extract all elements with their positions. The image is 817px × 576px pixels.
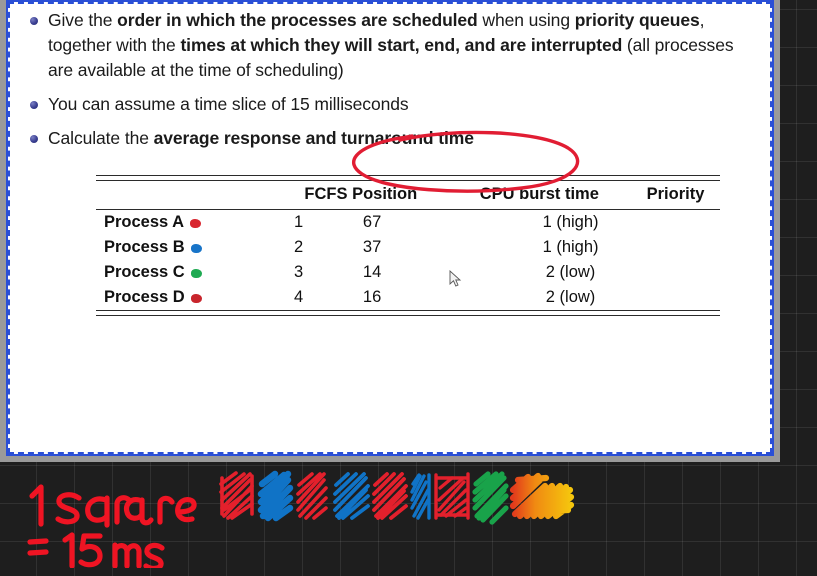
table-row: Process A 1 67 1 (high): [96, 210, 720, 235]
bullet-text-bold-2: priority queues: [575, 10, 700, 30]
table-header-row: FCFS Position CPU burst time Priority: [96, 181, 720, 209]
row-process-label: Process A: [96, 210, 274, 235]
table-row: Process B 2 37 1 (high): [96, 235, 720, 260]
slide-object[interactable]: Give the order in which the processes ar…: [0, 0, 780, 462]
table-head: FCFS Position CPU burst time Priority: [96, 181, 720, 209]
row-fcfs: 4: [274, 285, 323, 310]
bullet-text-bold-3: times at which they will start, end, and…: [180, 35, 622, 55]
bullet-text-plain-1: Give the: [48, 10, 117, 30]
row-burst: 16: [323, 285, 421, 310]
process-color-marker-c: [191, 269, 202, 278]
col-header-process: [96, 181, 274, 209]
process-color-marker-d: [191, 294, 202, 303]
row-priority: 2 (low): [421, 260, 720, 285]
mouse-pointer-icon: [449, 270, 463, 288]
gantt-block-9-process-d: [513, 476, 571, 516]
gantt-block-4-process-b: [335, 474, 368, 518]
row-burst: 14: [323, 260, 421, 285]
gantt-scribble-blocks: [0, 466, 817, 536]
row-priority: 1 (high): [421, 235, 720, 260]
table-row: Process C 3 14 2 (low): [96, 260, 720, 285]
row-process-name: Process A: [104, 213, 184, 231]
gantt-block-5-process-a: [374, 474, 406, 518]
process-table-body: Process A 1 67 1 (high) Process B 2 37 1…: [96, 210, 720, 310]
row-process-label: Process D: [96, 285, 274, 310]
process-color-marker-a: [190, 219, 201, 228]
row-priority: 2 (low): [421, 285, 720, 310]
process-table-wrapper: FCFS Position CPU burst time Priority Pr…: [96, 175, 720, 316]
bullet-average: Calculate the average response and turna…: [26, 126, 760, 151]
table-row: Process D 4 16 2 (low): [96, 285, 720, 310]
bullet-text-plain-2: when using: [478, 10, 575, 30]
slide-content: Give the order in which the processes ar…: [6, 0, 774, 456]
row-burst: 67: [323, 210, 421, 235]
row-fcfs: 3: [274, 260, 323, 285]
row-process-label: Process C: [96, 260, 274, 285]
slide-selection-frame[interactable]: Give the order in which the processes ar…: [0, 0, 780, 462]
process-color-marker-b: [191, 244, 202, 253]
row-burst: 37: [323, 235, 421, 260]
bullet-time-slice: You can assume a time slice of 15 millis…: [26, 92, 760, 117]
row-process-name: Process D: [104, 288, 185, 306]
gantt-block-8-process-c: [475, 474, 506, 522]
table-body: Process A 1 67 1 (high) Process B 2 37 1…: [96, 210, 720, 310]
gantt-block-7-process-a: [436, 474, 468, 518]
col-header-burst: CPU burst time: [448, 181, 631, 209]
bullet-average-plain: Calculate the: [48, 128, 154, 148]
table-bottom-rule: [96, 310, 720, 316]
bullet-list: Give the order in which the processes ar…: [22, 8, 760, 151]
gantt-block-1-process-a: [221, 473, 252, 518]
bullet-order: Give the order in which the processes ar…: [26, 8, 760, 83]
row-process-label: Process B: [96, 235, 274, 260]
row-process-name: Process C: [104, 263, 185, 281]
bullet-average-bold: average response and turnaround time: [154, 128, 474, 148]
application-root: Give the order in which the processes ar…: [0, 0, 817, 576]
col-header-priority: Priority: [631, 181, 720, 209]
bullet-time-slice-text: You can assume a time slice of 15 millis…: [48, 94, 409, 114]
bullet-text-bold-1: order in which the processes are schedul…: [117, 10, 478, 30]
process-table: FCFS Position CPU burst time Priority: [96, 181, 720, 209]
row-priority: 1 (high): [421, 210, 720, 235]
row-process-name: Process B: [104, 238, 185, 256]
gantt-block-2-process-b: [261, 474, 290, 518]
col-header-fcfs: FCFS Position: [274, 181, 448, 209]
row-fcfs: 1: [274, 210, 323, 235]
row-fcfs: 2: [274, 235, 323, 260]
gantt-block-6-process-b: [412, 475, 429, 518]
gantt-block-3-process-a: [298, 474, 326, 518]
